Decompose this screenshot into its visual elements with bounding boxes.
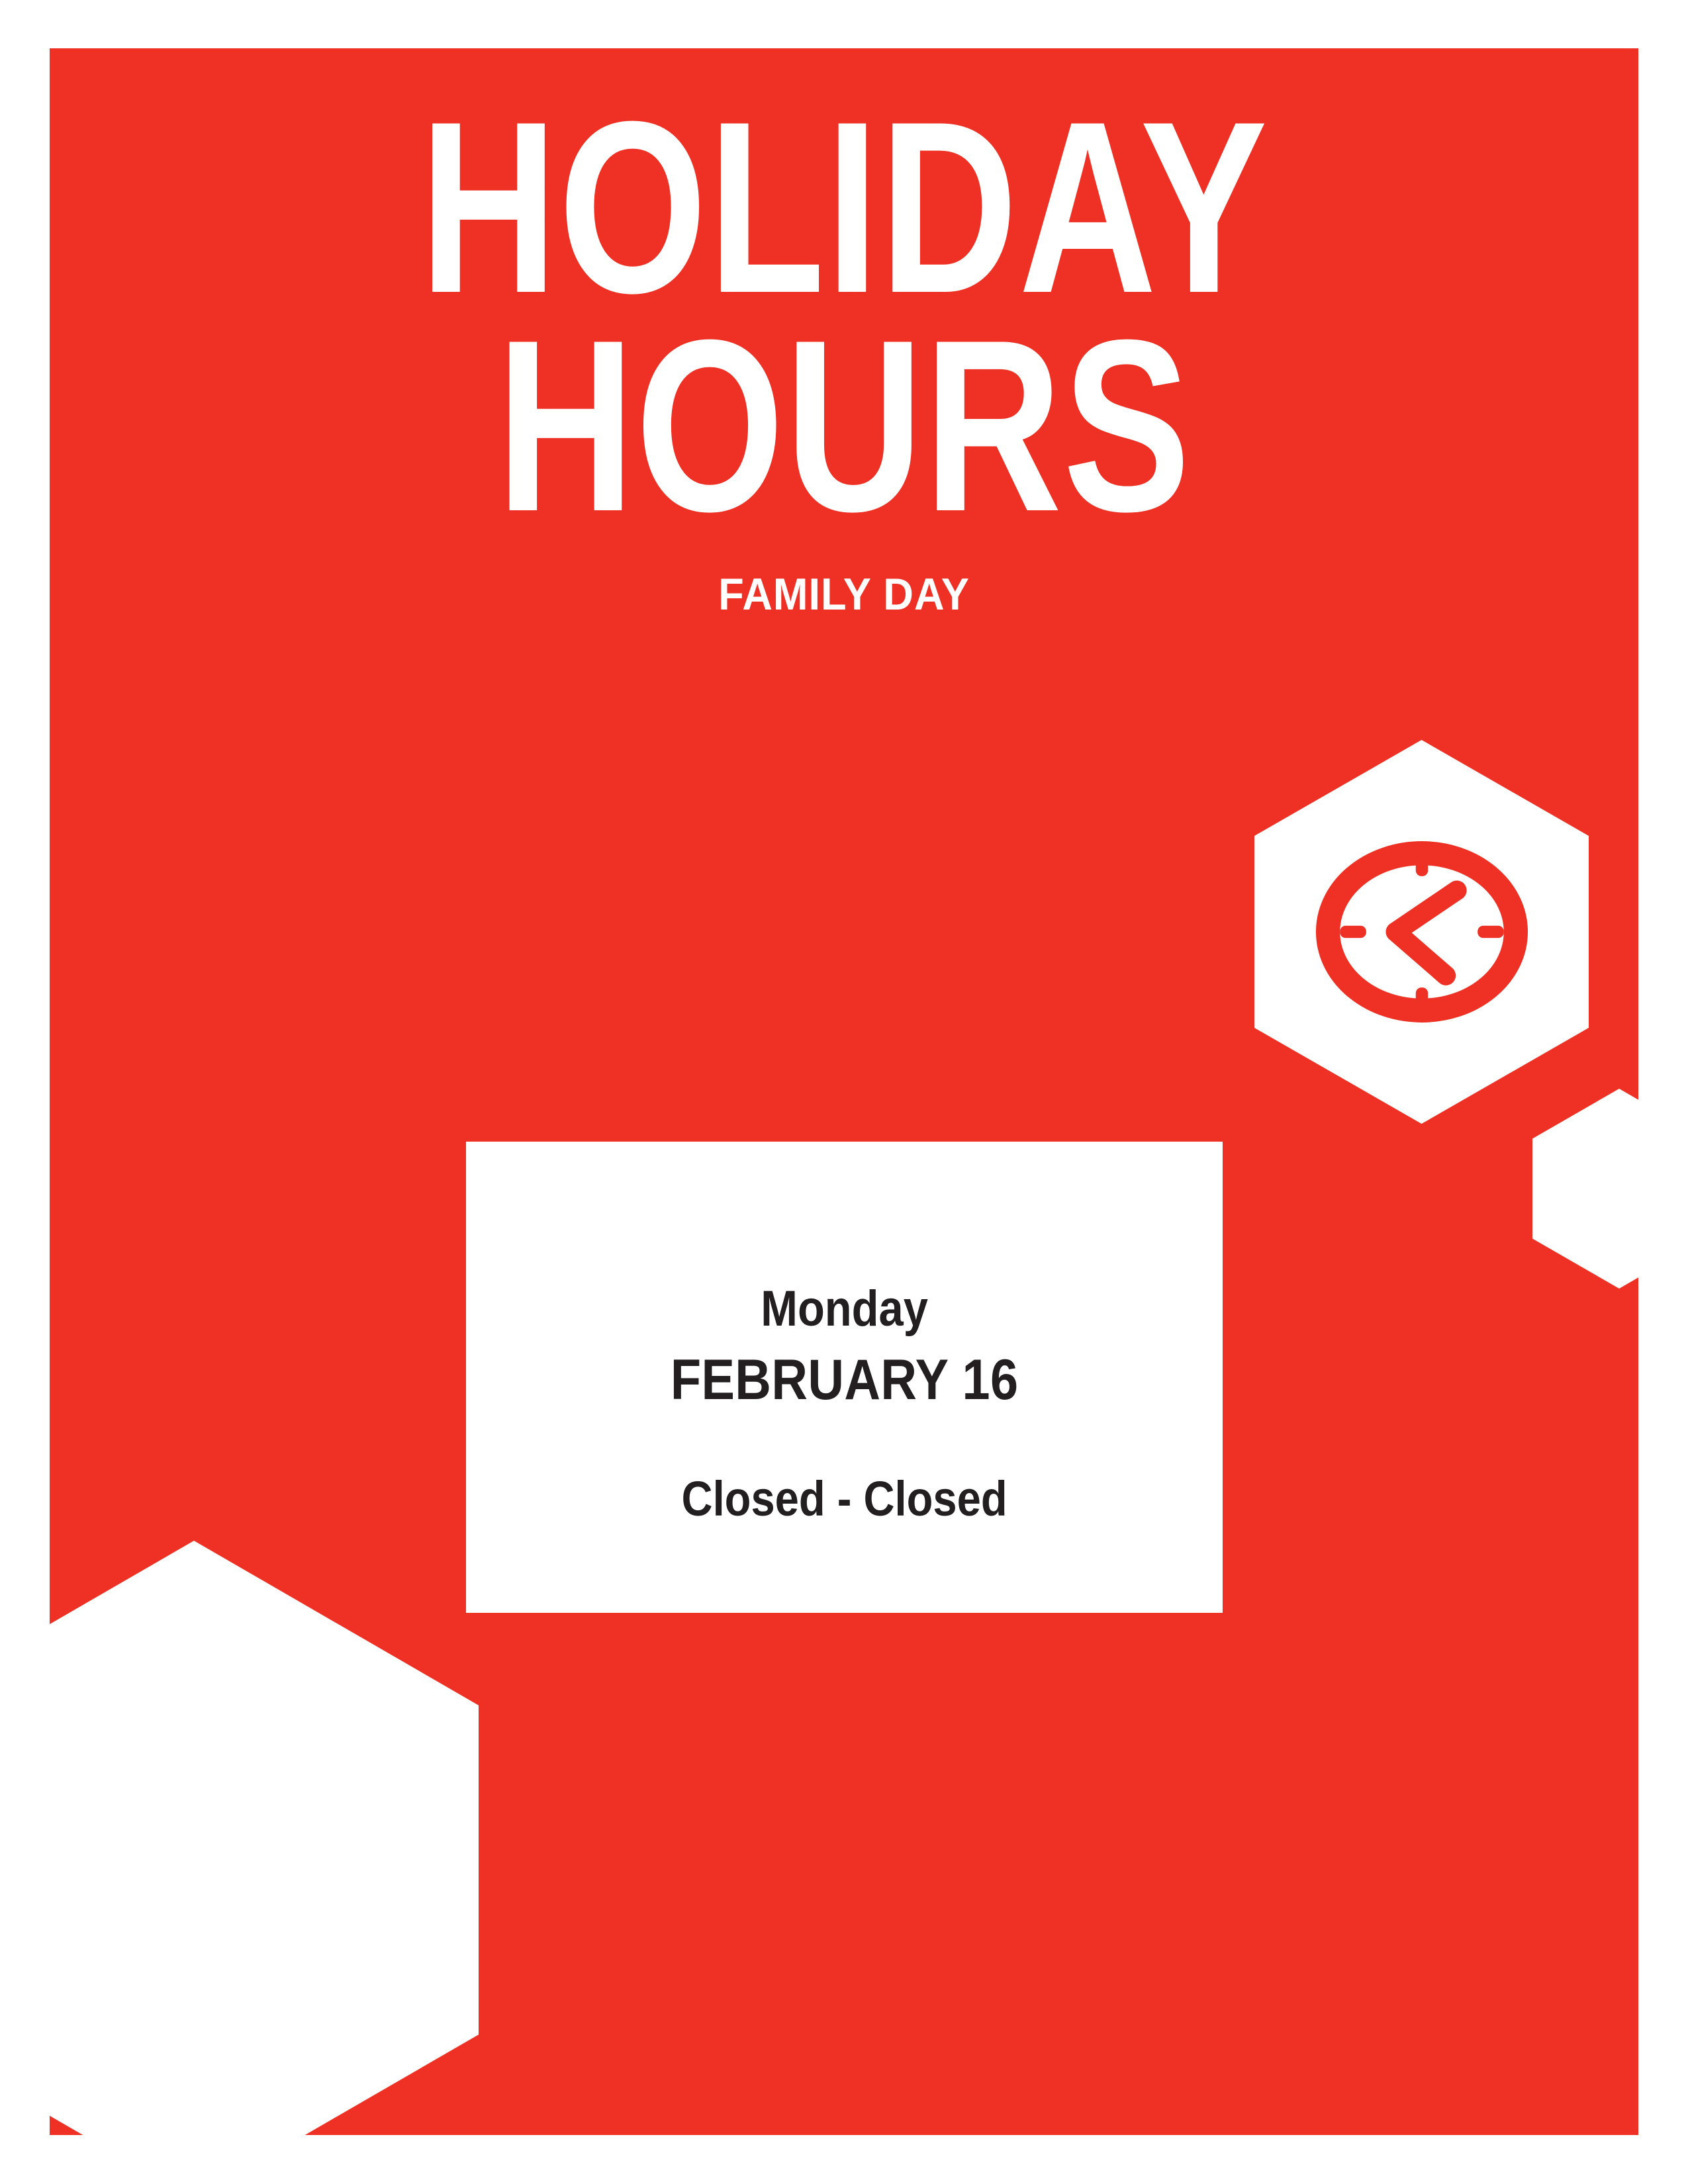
page-subtitle: FAMILY DAY	[105, 531, 1583, 620]
page-title-line-2: HOURS	[224, 313, 1464, 531]
poster-page: HOLIDAY HOURS FAMILY DAY	[0, 0, 1688, 2184]
accent-hexagon-large	[50, 1541, 479, 2135]
card-hours-range: Closed - Closed	[681, 1410, 1007, 1525]
card-weekday: Monday	[761, 1230, 928, 1336]
poster-canvas: HOLIDAY HOURS FAMILY DAY	[50, 48, 1638, 2135]
hours-card: Monday FEBRUARY 16 Closed - Closed	[466, 1142, 1223, 1613]
clock-hexagon-badge	[1254, 740, 1589, 1124]
card-date: FEBRUARY 16	[671, 1336, 1019, 1410]
accent-hexagon-small	[1532, 1089, 1638, 1289]
headline-block: HOLIDAY HOURS FAMILY DAY	[50, 48, 1638, 620]
clock-icon	[1313, 823, 1531, 1041]
page-title-line-1: HOLIDAY	[224, 48, 1464, 313]
